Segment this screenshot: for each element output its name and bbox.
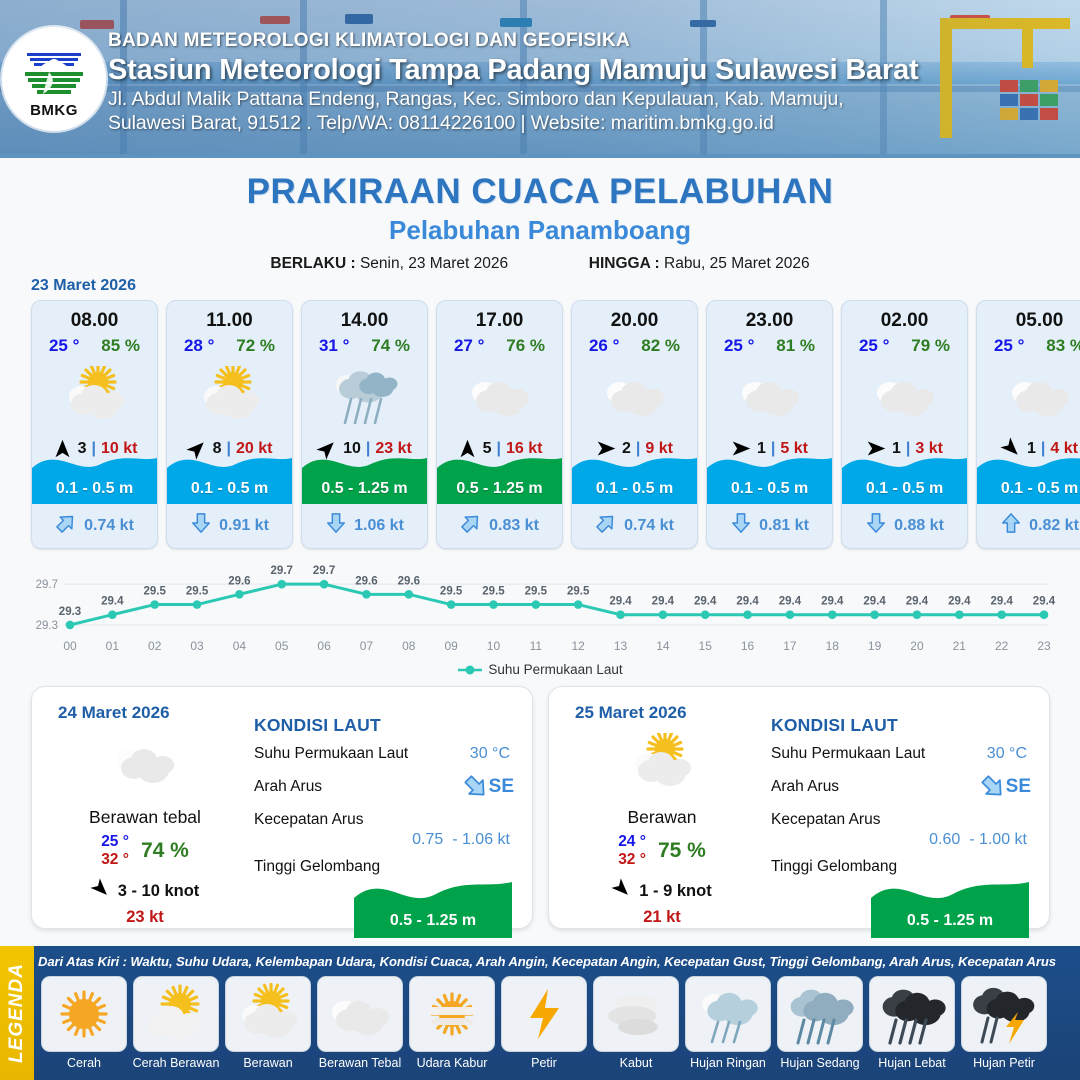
lightning-icon [501, 976, 587, 1052]
sst-chart: 29.329.729.30029.40129.50229.50329.60429… [22, 558, 1062, 658]
daily-wind-speed: 1 - 9 knot [639, 882, 711, 901]
card-temp-hum: 31 ° 74 % [302, 336, 427, 356]
wave-height-badge: 0.5 - 1.25 m [871, 876, 1029, 938]
legend-marker-icon [457, 664, 483, 676]
sst-label: Suhu Permukaan Laut [254, 745, 408, 762]
card-humidity: 83 % [1046, 336, 1080, 356]
hourly-card: 23.00 25 ° 81 % 1 | 5 kt 0.1 - 0.5 m 0.8… [706, 300, 833, 549]
current-direction-row: Arah Arus SE [254, 778, 516, 802]
legend-item-label: Kabut [620, 1056, 653, 1070]
daily-left-column: Berawan tebal 25 ° 32 ° 74 % 3 - 10 knot… [50, 731, 240, 927]
svg-text:29.4: 29.4 [1033, 596, 1056, 608]
sst-chart-svg: 29.329.729.30029.40129.50229.50329.60429… [22, 558, 1062, 658]
current-speed-min: 0.60 [929, 831, 960, 848]
legend-item-label: Hujan Sedang [780, 1056, 859, 1070]
svg-text:18: 18 [826, 639, 840, 653]
wave-height-value: 0.5 - 1.25 m [871, 912, 1029, 930]
svg-text:03: 03 [190, 639, 204, 653]
svg-text:29.4: 29.4 [694, 596, 717, 608]
card-current-speed: 0.91 kt [219, 517, 269, 535]
svg-text:29.4: 29.4 [948, 596, 971, 608]
sea-condition-title: KONDISI LAUT [254, 715, 516, 736]
wave-height-label: Tinggi Gelombang [254, 858, 380, 875]
daily-temp-humidity: 25 ° 32 ° 74 % [50, 833, 240, 869]
current-speed-row: Kecepatan Arus 0.60 - 1.00 kt [771, 811, 1033, 849]
cloudy-icon [317, 976, 403, 1052]
chart-legend: Suhu Permukaan Laut [0, 662, 1080, 677]
hourly-card: 17.00 27 ° 76 % 5 | 16 kt 0.5 - 1.25 m 0… [436, 300, 563, 549]
daily-temp-max: 32 ° [101, 851, 129, 869]
partly-cloudy-icon [567, 731, 757, 793]
valid-from-label: BERLAKU : [270, 255, 355, 272]
legend-item-label: Berawan [243, 1056, 292, 1070]
current-direction-arrow-icon [190, 512, 212, 539]
card-current-row: 0.83 kt [437, 512, 562, 539]
current-speed-label: Kecepatan Arus [771, 811, 880, 828]
svg-text:11: 11 [530, 639, 543, 653]
hourly-forecast-row: 08.00 25 ° 85 % 3 | 10 kt 0.1 - 0.5 m 0.… [31, 300, 1080, 549]
current-speed-max: - 1.00 kt [969, 831, 1027, 848]
legend-note: Dari Atas Kiri : Waktu, Suhu Udara, Kele… [38, 954, 1074, 969]
card-temperature: 25 ° [49, 336, 79, 356]
legend-item-label: Cerah Berawan [133, 1056, 220, 1070]
card-temperature: 31 ° [319, 336, 349, 356]
card-temperature: 25 ° [724, 336, 754, 356]
moderate-rain-icon [777, 976, 863, 1052]
card-humidity: 74 % [371, 336, 410, 356]
page-header: BMKG BADAN METEOROLOGI KLIMATOLOGI DAN G… [0, 0, 1080, 158]
svg-text:10: 10 [487, 639, 501, 653]
current-speed-min: 0.75 [412, 831, 443, 848]
current-direction-arrow-icon [730, 512, 752, 539]
daily-date: 25 Maret 2026 [575, 703, 687, 723]
svg-text:29.4: 29.4 [101, 596, 124, 608]
page-title: PRAKIRAAN CUACA PELABUHAN [0, 172, 1080, 212]
card-current-speed: 0.88 kt [894, 517, 944, 535]
daily-temp-min: 24 ° [618, 833, 646, 851]
daily-condition: Berawan [567, 807, 757, 828]
wave-height-row: Tinggi Gelombang 0.5 - 1.25 m [771, 858, 1033, 882]
card-current-row: 0.74 kt [32, 512, 157, 539]
daily-humidity: 75 % [658, 839, 706, 863]
card-temp-hum: 25 ° 79 % [842, 336, 967, 356]
validity-row: BERLAKU : Senin, 23 Maret 2026 HINGGA : … [0, 255, 1080, 273]
card-current-row: 0.88 kt [842, 512, 967, 539]
svg-text:21: 21 [953, 639, 967, 653]
svg-text:00: 00 [63, 639, 77, 653]
current-direction-arrow-icon [1000, 512, 1022, 539]
card-current-row: 0.74 kt [572, 512, 697, 539]
card-wave-height: 0.1 - 0.5 m [977, 480, 1080, 498]
header-station-name: Stasiun Meteorologi Tampa Padang Mamuju … [108, 54, 1058, 87]
card-temperature: 25 ° [859, 336, 889, 356]
legend-item: Petir [500, 976, 588, 1078]
legend-item: Berawan Tebal [316, 976, 404, 1078]
card-wave-height: 0.1 - 0.5 m [707, 480, 832, 498]
legend-item-label: Udara Kabur [417, 1056, 488, 1070]
wave-height-label: Tinggi Gelombang [771, 858, 897, 875]
card-temperature: 25 ° [994, 336, 1024, 356]
card-wave-height: 0.1 - 0.5 m [842, 480, 967, 498]
heavy-rain-icon [869, 976, 955, 1052]
svg-text:29.4: 29.4 [990, 596, 1013, 608]
bmkg-logo-text: BMKG [30, 102, 78, 119]
svg-text:29.5: 29.5 [186, 586, 209, 598]
current-direction-arrow-icon [460, 512, 482, 539]
svg-text:16: 16 [741, 639, 755, 653]
svg-text:29.4: 29.4 [821, 596, 844, 608]
bmkg-logo: BMKG [2, 27, 106, 131]
valid-until-value: Rabu, 25 Maret 2026 [664, 255, 810, 272]
legend-tab-label: LEGENDA [6, 963, 28, 1063]
cloudy-icon [463, 364, 537, 426]
svg-text:29.4: 29.4 [779, 596, 802, 608]
legend-item-label: Hujan Lebat [878, 1056, 945, 1070]
wave-height-value: 0.5 - 1.25 m [354, 912, 512, 930]
wind-direction-arrow-icon [91, 879, 111, 904]
hourly-card: 08.00 25 ° 85 % 3 | 10 kt 0.1 - 0.5 m 0.… [31, 300, 158, 549]
partly-cloudy-icon [225, 976, 311, 1052]
current-direction-arrow-icon [55, 512, 77, 539]
daily-temp-max: 32 ° [618, 851, 646, 869]
sst-value: 30 °C [987, 745, 1027, 763]
svg-text:06: 06 [317, 639, 331, 653]
svg-text:08: 08 [402, 639, 416, 653]
hourly-card: 11.00 28 ° 72 % 8 | 20 kt 0.1 - 0.5 m 0.… [166, 300, 293, 549]
daily-wind-row: 3 - 10 knot [50, 879, 240, 904]
daily-left-column: Berawan 24 ° 32 ° 75 % 1 - 9 knot 21 kt [567, 731, 757, 927]
card-temp-hum: 25 ° 85 % [32, 336, 157, 356]
svg-text:29.3: 29.3 [36, 620, 58, 632]
card-current-row: 0.91 kt [167, 512, 292, 539]
svg-text:29.5: 29.5 [567, 586, 590, 598]
svg-text:29.3: 29.3 [59, 606, 81, 618]
sun-icon [41, 976, 127, 1052]
legend-item-label: Hujan Petir [973, 1056, 1035, 1070]
current-direction-arrow-icon [865, 512, 887, 539]
svg-text:29.4: 29.4 [906, 596, 929, 608]
sea-condition-block: KONDISI LAUT Suhu Permukaan Laut 30 °C A… [771, 715, 1033, 882]
partly-cloudy-icon [58, 364, 132, 426]
legend-item-label: Cerah [67, 1056, 101, 1070]
daily-date: 24 Maret 2026 [58, 703, 170, 723]
svg-text:13: 13 [614, 639, 628, 653]
header-organization: BADAN METEOROLOGI KLIMATOLOGI DAN GEOFIS… [108, 30, 1058, 52]
card-wave-height: 0.1 - 0.5 m [572, 480, 697, 498]
cloudy-icon [733, 364, 807, 426]
card-time: 14.00 [341, 310, 389, 332]
card-current-row: 0.82 kt [977, 512, 1080, 539]
card-temperature: 26 ° [589, 336, 619, 356]
legend-item: Berawan [224, 976, 312, 1078]
hourly-card: 05.00 25 ° 83 % 1 | 4 kt 0.1 - 0.5 m 0.8… [976, 300, 1080, 549]
light-rain-icon [685, 976, 771, 1052]
current-direction-label: Arah Arus [771, 778, 839, 795]
card-temp-hum: 27 ° 76 % [437, 336, 562, 356]
cloudy-icon [50, 731, 240, 793]
svg-text:29.5: 29.5 [440, 586, 463, 598]
fog-icon [593, 976, 679, 1052]
partly-cloudy-icon [193, 364, 267, 426]
daily-temp-humidity: 24 ° 32 ° 75 % [567, 833, 757, 869]
daily-gust: 23 kt [50, 908, 240, 927]
svg-text:05: 05 [275, 639, 289, 653]
title-block: PRAKIRAAN CUACA PELABUHAN Pelabuhan Pana… [0, 158, 1080, 273]
legend-item: Hujan Petir [960, 976, 1048, 1078]
cloudy-icon [1003, 364, 1077, 426]
svg-text:29.7: 29.7 [36, 579, 58, 591]
valid-until-label: HINGGA : [589, 255, 660, 272]
sst-value: 30 °C [470, 745, 510, 763]
svg-text:07: 07 [360, 639, 374, 653]
daily-temp-min: 25 ° [101, 833, 129, 851]
daily-forecast-row: 24 Maret 2026 Berawan tebal 25 ° 32 ° 74… [31, 686, 1050, 929]
svg-text:15: 15 [699, 639, 713, 653]
current-direction-indicator: SE [463, 774, 514, 800]
card-humidity: 76 % [506, 336, 545, 356]
thunderstorm-icon [961, 976, 1047, 1052]
sea-condition-block: KONDISI LAUT Suhu Permukaan Laut 30 °C A… [254, 715, 516, 882]
svg-text:29.5: 29.5 [525, 586, 548, 598]
port-name: Pelabuhan Panamboang [0, 215, 1080, 246]
card-current-speed: 0.81 kt [759, 517, 809, 535]
card-time: 17.00 [476, 310, 524, 332]
svg-text:01: 01 [106, 639, 120, 653]
hourly-card: 20.00 26 ° 82 % 2 | 9 kt 0.1 - 0.5 m 0.7… [571, 300, 698, 549]
wave-height-badge: 0.5 - 1.25 m [354, 876, 512, 938]
rain-icon [328, 364, 402, 426]
card-temp-hum: 25 ° 81 % [707, 336, 832, 356]
legend-item: Cerah Berawan [132, 976, 220, 1078]
svg-text:17: 17 [783, 639, 797, 653]
legend-items: Cerah Cerah Berawan Berawan Berawan Teba… [40, 976, 1076, 1078]
svg-text:29.4: 29.4 [863, 596, 886, 608]
chart-legend-label: Suhu Permukaan Laut [488, 662, 622, 677]
svg-text:20: 20 [910, 639, 924, 653]
card-wave-height: 0.5 - 1.25 m [302, 480, 427, 498]
hourly-card: 14.00 31 ° 74 % [301, 300, 428, 549]
legend-item: Hujan Sedang [776, 976, 864, 1078]
current-direction-arrow-icon [325, 512, 347, 539]
card-time: 20.00 [611, 310, 659, 332]
bmkg-emblem-icon [19, 39, 89, 101]
current-direction-label: Arah Arus [254, 778, 322, 795]
svg-text:12: 12 [571, 639, 585, 653]
svg-text:02: 02 [148, 639, 162, 653]
card-time: 11.00 [206, 310, 253, 332]
card-humidity: 85 % [101, 336, 140, 356]
current-direction-row: Arah Arus SE [771, 778, 1033, 802]
card-current-speed: 0.83 kt [489, 517, 539, 535]
card-humidity: 79 % [911, 336, 950, 356]
card-current-speed: 1.06 kt [354, 517, 404, 535]
card-wave-height: 0.1 - 0.5 m [167, 480, 292, 498]
current-direction-indicator: SE [980, 774, 1031, 800]
card-time: 23.00 [746, 310, 794, 332]
daily-forecast-panel: 25 Maret 2026 Berawan 24 ° 32 ° 75 % 1 -… [548, 686, 1050, 929]
svg-text:29.5: 29.5 [144, 586, 167, 598]
card-current-row: 1.06 kt [302, 512, 427, 539]
haze-icon [409, 976, 495, 1052]
wind-direction-arrow-icon [612, 879, 632, 904]
legend-tab: LEGENDA [0, 946, 34, 1080]
header-text-block: BADAN METEOROLOGI KLIMATOLOGI DAN GEOFIS… [108, 30, 1058, 135]
card-current-row: 0.81 kt [707, 512, 832, 539]
daily-humidity: 74 % [141, 839, 189, 863]
current-speed-max: - 1.06 kt [452, 831, 510, 848]
cloudy-icon [598, 364, 672, 426]
card-temp-hum: 26 ° 82 % [572, 336, 697, 356]
valid-from-value: Senin, 23 Maret 2026 [360, 255, 508, 272]
card-time: 02.00 [881, 310, 929, 332]
svg-text:29.5: 29.5 [482, 586, 505, 598]
legend-item-label: Hujan Ringan [690, 1056, 766, 1070]
card-wave-height: 0.1 - 0.5 m [32, 480, 157, 498]
legend-item-label: Petir [531, 1056, 557, 1070]
card-temp-hum: 25 ° 83 % [977, 336, 1080, 356]
card-current-speed: 0.74 kt [624, 517, 674, 535]
current-speed-label: Kecepatan Arus [254, 811, 363, 828]
svg-text:29.4: 29.4 [736, 596, 759, 608]
header-address-line1: Jl. Abdul Malik Pattana Endeng, Rangas, … [108, 88, 1058, 111]
current-direction-arrow-icon [595, 512, 617, 539]
sun-cloud-icon [133, 976, 219, 1052]
daily-wind-speed: 3 - 10 knot [118, 882, 200, 901]
card-current-speed: 0.74 kt [84, 517, 134, 535]
header-address-line2: Sulawesi Barat, 91512 . Telp/WA: 0811422… [108, 112, 1058, 135]
legend-item: Kabut [592, 976, 680, 1078]
daily-condition: Berawan tebal [50, 807, 240, 828]
svg-text:29.4: 29.4 [609, 596, 632, 608]
legend-item: Cerah [40, 976, 128, 1078]
daily-forecast-panel: 24 Maret 2026 Berawan tebal 25 ° 32 ° 74… [31, 686, 533, 929]
hourly-date-label: 23 Maret 2026 [31, 277, 136, 295]
svg-text:29.6: 29.6 [228, 575, 250, 587]
svg-text:29.7: 29.7 [313, 565, 335, 577]
svg-text:22: 22 [995, 639, 1009, 653]
svg-text:04: 04 [233, 639, 247, 653]
card-current-speed: 0.82 kt [1029, 517, 1079, 535]
sst-row: Suhu Permukaan Laut 30 °C [254, 745, 516, 769]
card-time: 05.00 [1016, 310, 1064, 332]
legend-item: Udara Kabur [408, 976, 496, 1078]
card-temperature: 28 ° [184, 336, 214, 356]
card-humidity: 72 % [236, 336, 275, 356]
sst-label: Suhu Permukaan Laut [771, 745, 925, 762]
card-time: 08.00 [71, 310, 119, 332]
svg-text:23: 23 [1037, 639, 1051, 653]
svg-text:09: 09 [444, 639, 458, 653]
svg-text:29.6: 29.6 [355, 575, 377, 587]
svg-text:29.7: 29.7 [271, 565, 293, 577]
sea-condition-title: KONDISI LAUT [771, 715, 1033, 736]
daily-wind-row: 1 - 9 knot [567, 879, 757, 904]
cloudy-icon [868, 364, 942, 426]
sst-row: Suhu Permukaan Laut 30 °C [771, 745, 1033, 769]
legend-item: Hujan Lebat [868, 976, 956, 1078]
daily-gust: 21 kt [567, 908, 757, 927]
card-humidity: 82 % [641, 336, 680, 356]
legend-item-label: Berawan Tebal [319, 1056, 401, 1070]
svg-text:29.4: 29.4 [652, 596, 675, 608]
hourly-card: 02.00 25 ° 79 % 1 | 3 kt 0.1 - 0.5 m 0.8… [841, 300, 968, 549]
wave-height-row: Tinggi Gelombang 0.5 - 1.25 m [254, 858, 516, 882]
legend-item: Hujan Ringan [684, 976, 772, 1078]
card-temperature: 27 ° [454, 336, 484, 356]
card-wave-height: 0.5 - 1.25 m [437, 480, 562, 498]
svg-text:14: 14 [656, 639, 670, 653]
svg-text:29.6: 29.6 [398, 575, 420, 587]
current-speed-row: Kecepatan Arus 0.75 - 1.06 kt [254, 811, 516, 849]
card-temp-hum: 28 ° 72 % [167, 336, 292, 356]
legend-footer: LEGENDA Dari Atas Kiri : Waktu, Suhu Uda… [0, 946, 1080, 1080]
card-humidity: 81 % [776, 336, 815, 356]
svg-text:19: 19 [868, 639, 882, 653]
